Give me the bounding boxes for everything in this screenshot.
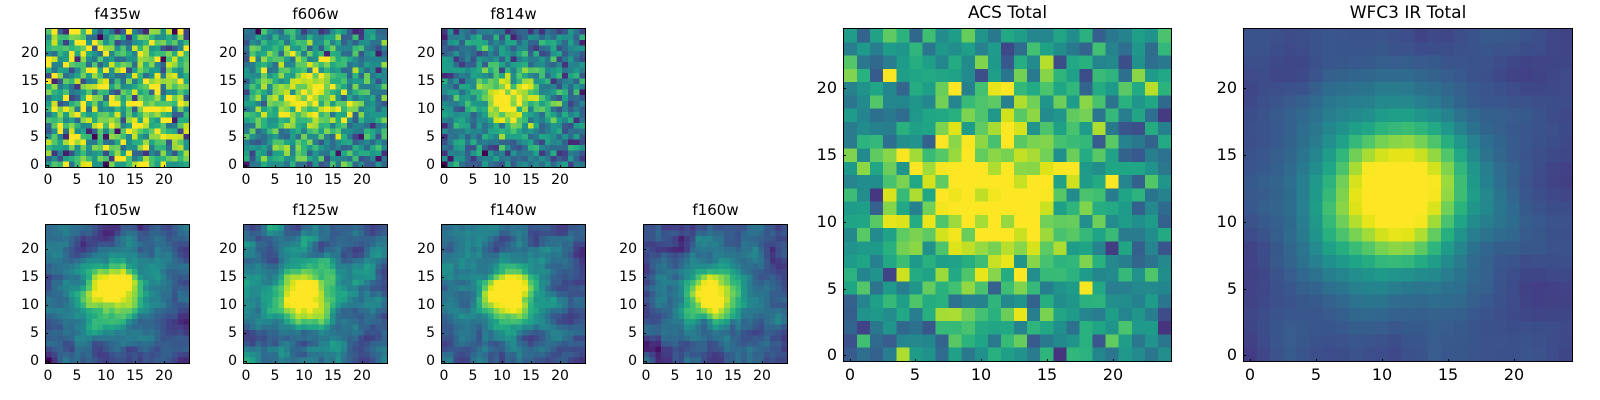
- x-tick-label: 5: [1311, 367, 1321, 383]
- y-tick-label: 10: [1195, 214, 1237, 230]
- x-tick-mark: [1250, 359, 1251, 362]
- y-tick-mark: [1243, 88, 1246, 89]
- x-tick-mark: [1448, 359, 1449, 362]
- panel-wfc3-ir-total: WFC3 IR Total0510152005101520: [0, 0, 1600, 400]
- y-tick-mark: [1243, 289, 1246, 290]
- y-tick-label: 20: [1195, 80, 1237, 96]
- x-tick-mark: [1316, 359, 1317, 362]
- y-tick-mark: [1243, 222, 1246, 223]
- x-tick-label: 10: [1372, 367, 1392, 383]
- x-tick-label: 20: [1504, 367, 1524, 383]
- heatmap-axes-wfc3-ir-total: [1243, 28, 1573, 362]
- x-tick-mark: [1514, 359, 1515, 362]
- y-tick-label: 0: [1195, 347, 1237, 363]
- x-tick-mark: [1382, 359, 1383, 362]
- y-tick-mark: [1243, 355, 1246, 356]
- x-tick-label: 15: [1438, 367, 1458, 383]
- x-tick-label: 0: [1245, 367, 1255, 383]
- y-tick-label: 15: [1195, 147, 1237, 163]
- heatmap-image-wfc3-ir-total: [1244, 29, 1572, 361]
- y-tick-mark: [1243, 155, 1246, 156]
- panel-title-wfc3-ir-total: WFC3 IR Total: [1243, 5, 1573, 22]
- y-tick-label: 5: [1195, 281, 1237, 297]
